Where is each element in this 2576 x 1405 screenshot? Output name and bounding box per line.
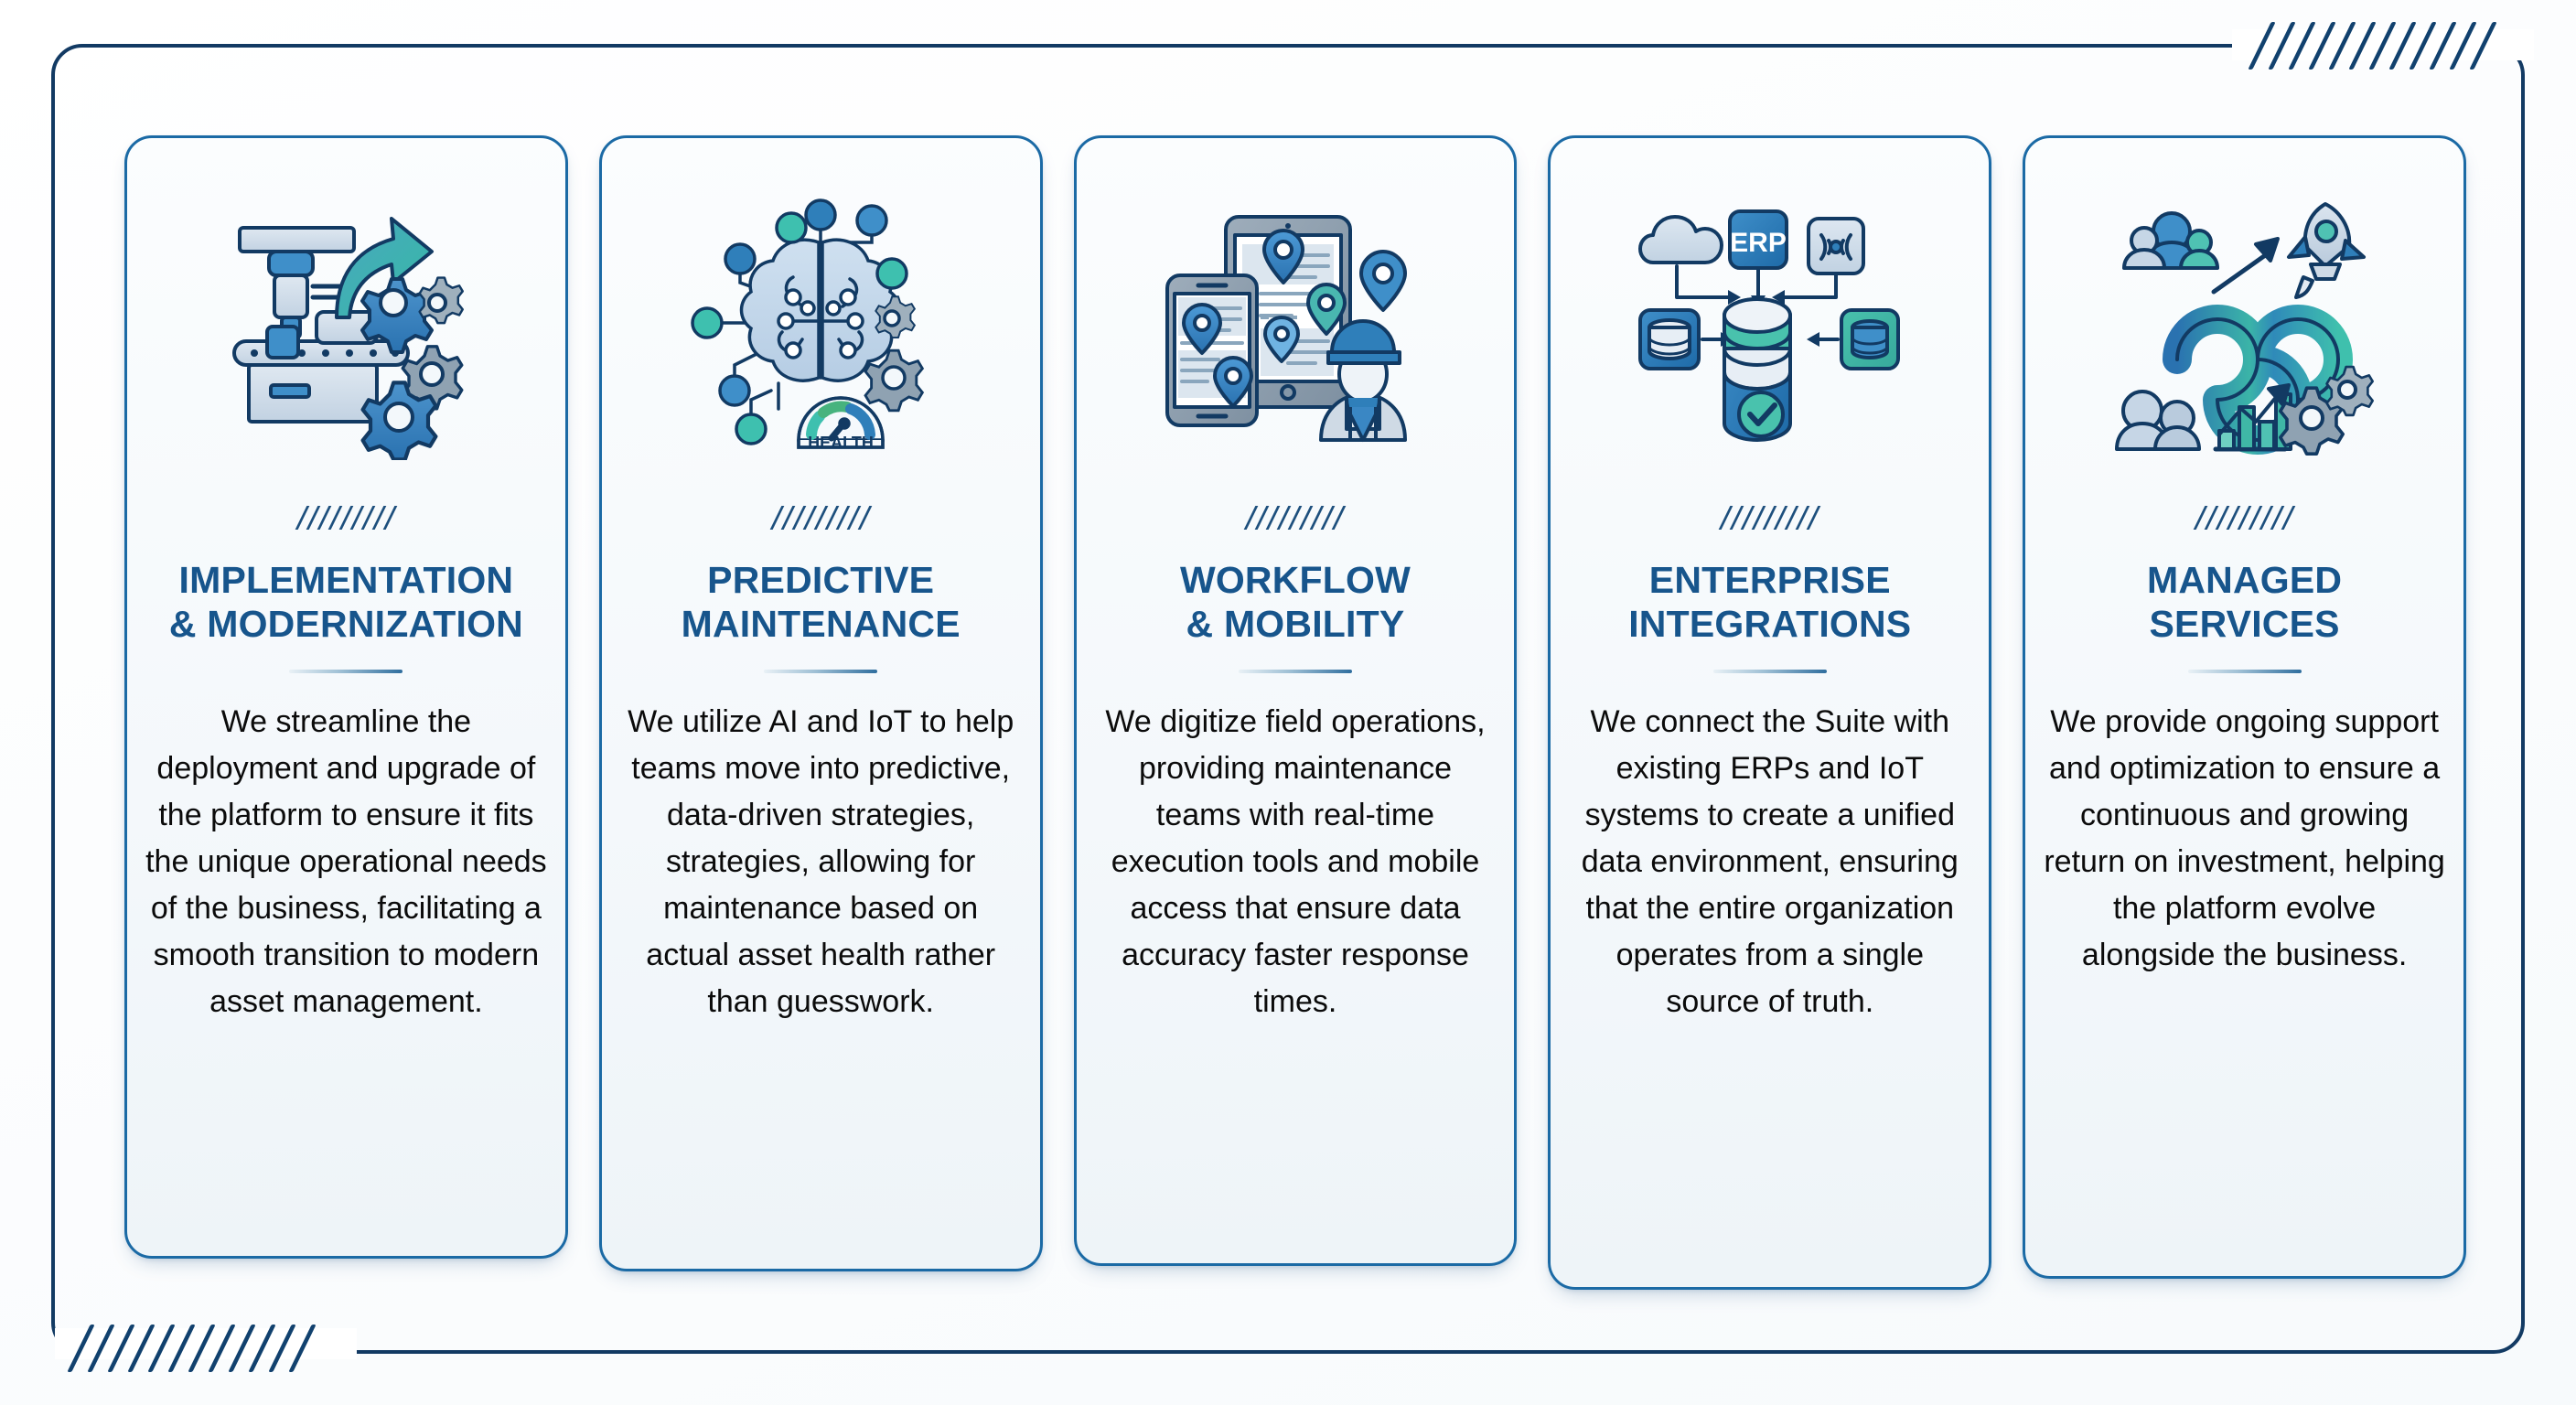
card-implementation-modernization[interactable]: IMPLEMENTATION & MODERNIZATION We stream… [124,135,568,1259]
erp-label: ERP [1730,228,1787,258]
service-card-grid: IMPLEMENTATION & MODERNIZATION We stream… [124,135,2466,1299]
title-divider [289,670,402,673]
card-title: WORKFLOW & MOBILITY [1180,559,1411,646]
hatch-separator [2199,506,2290,531]
infographic-canvas: IMPLEMENTATION & MODERNIZATION We stream… [0,0,2576,1405]
hatch-decoration-bottom-left [79,1325,305,1372]
card-title: MANAGED SERVICES [2147,559,2342,646]
hatch-separator [776,506,866,531]
card-body: We digitize field operations, providing … [1095,699,1497,1025]
card-workflow-mobility[interactable]: WORKFLOW & MOBILITY We digitize field op… [1074,135,1518,1266]
title-divider [1713,670,1827,673]
erp-database-integration-icon: ERP [1569,177,1970,478]
ai-brain-health-gauge-icon: HEALTH [620,177,1022,478]
hatch-separator [1724,506,1815,531]
card-body: We provide ongoing support and optimizat… [2044,699,2445,979]
infinity-growth-rocket-icon [2044,177,2445,478]
factory-automation-icon [145,177,547,478]
hatch-decoration-top-right [2259,22,2485,70]
mobile-field-worker-icon [1095,177,1497,478]
card-title: IMPLEMENTATION & MODERNIZATION [169,559,523,646]
card-title: ENTERPRISE INTEGRATIONS [1628,559,1911,646]
card-title: PREDICTIVE MAINTENANCE [682,559,961,646]
title-divider [764,670,877,673]
card-enterprise-integrations[interactable]: ERP ENTERPRISE INTEGRATIONS We connect t… [1548,135,1991,1290]
title-divider [2188,670,2302,673]
hatch-separator [1250,506,1340,531]
card-body: We streamline the deployment and upgrade… [145,699,547,1025]
title-divider [1239,670,1352,673]
hatch-separator [301,506,392,531]
card-body: We utilize AI and IoT to help teams move… [620,699,1022,1025]
card-body: We connect the Suite with existing ERPs … [1569,699,1970,1025]
card-managed-services[interactable]: MANAGED SERVICES We provide ongoing supp… [2023,135,2466,1279]
gauge-label: HEALTH [808,434,874,452]
card-predictive-maintenance[interactable]: HEALTH PREDICTIVE MAINTENANCE We utilize… [599,135,1043,1271]
